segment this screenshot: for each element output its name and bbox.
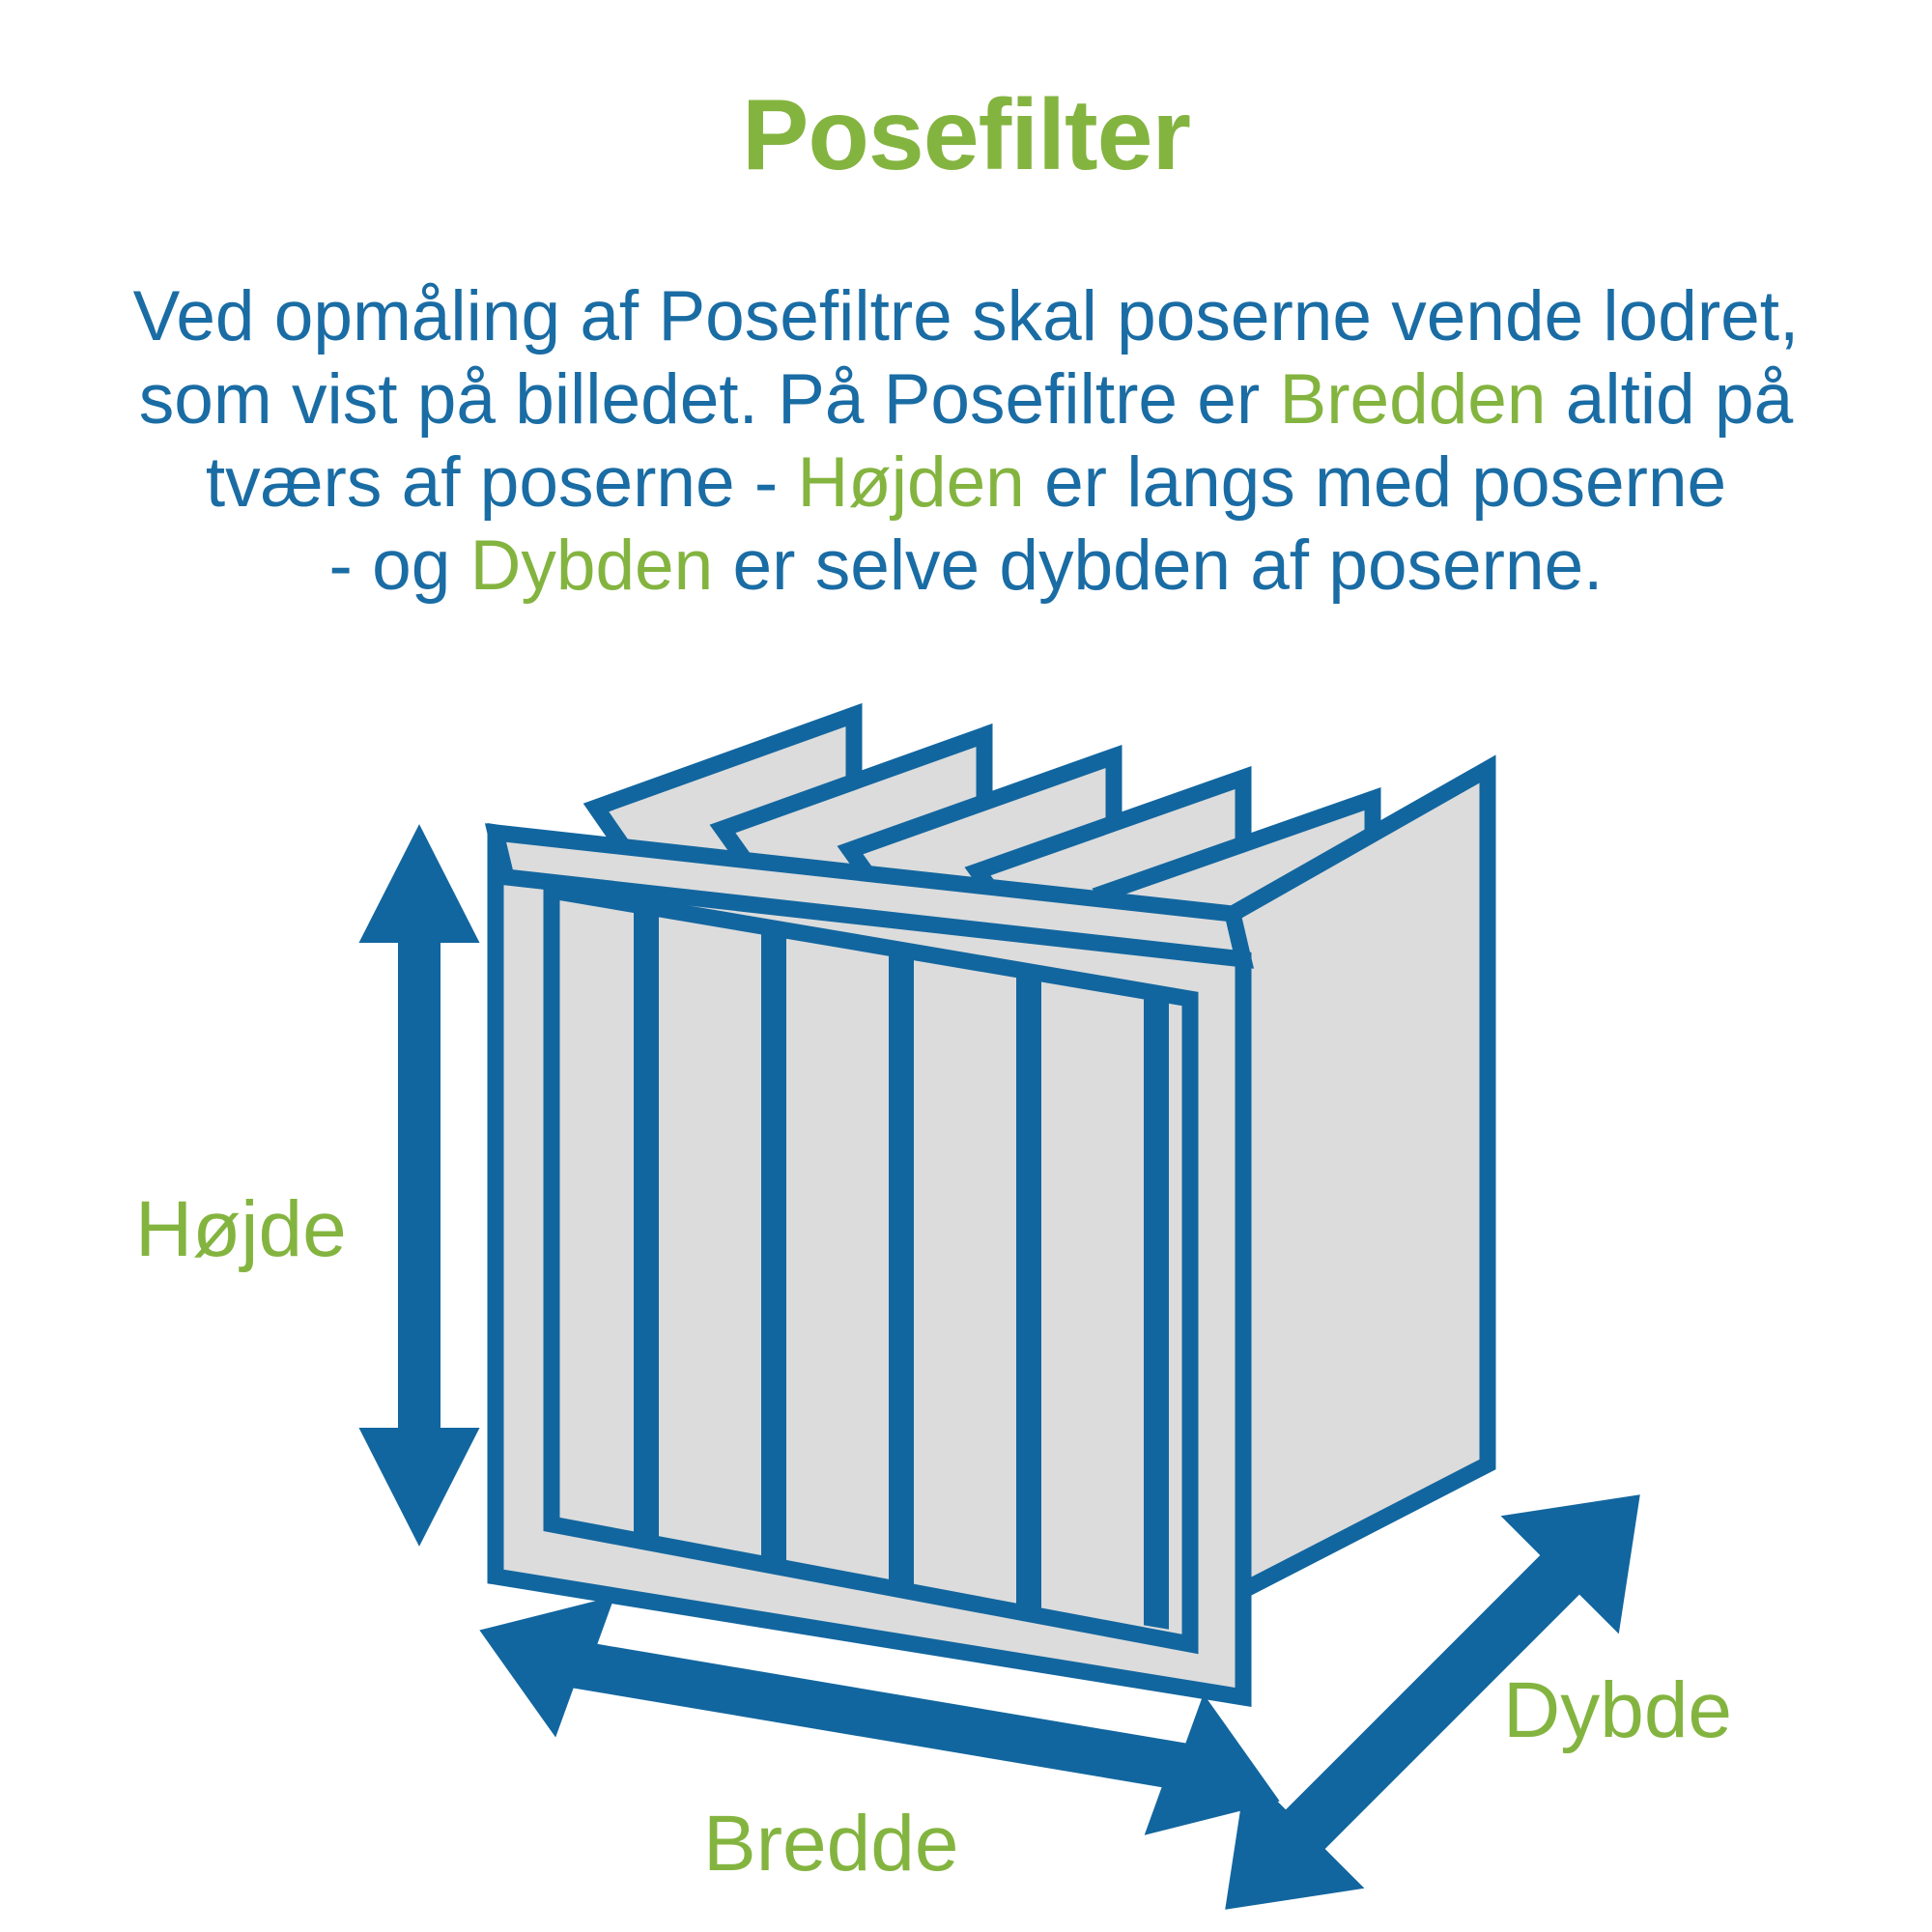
bag-filter-diagram: Højde Bredde Dybde [0,0,1932,1932]
front-divider-2 [765,926,782,1561]
depth-label: Dybde [1503,1666,1732,1754]
height-arrow-shape [365,833,473,1538]
front-divider-5 [1148,990,1165,1625]
width-label: Bredde [703,1800,958,1888]
height-label: Højde [135,1185,347,1273]
page-root: Posefilter Ved opmåling af Posefiltre sk… [0,0,1932,1932]
front-divider-1 [638,905,655,1540]
front-divider-3 [893,948,910,1582]
front-divider-4 [1020,969,1037,1604]
bag-pocket-6-side-face [1233,769,1488,1596]
